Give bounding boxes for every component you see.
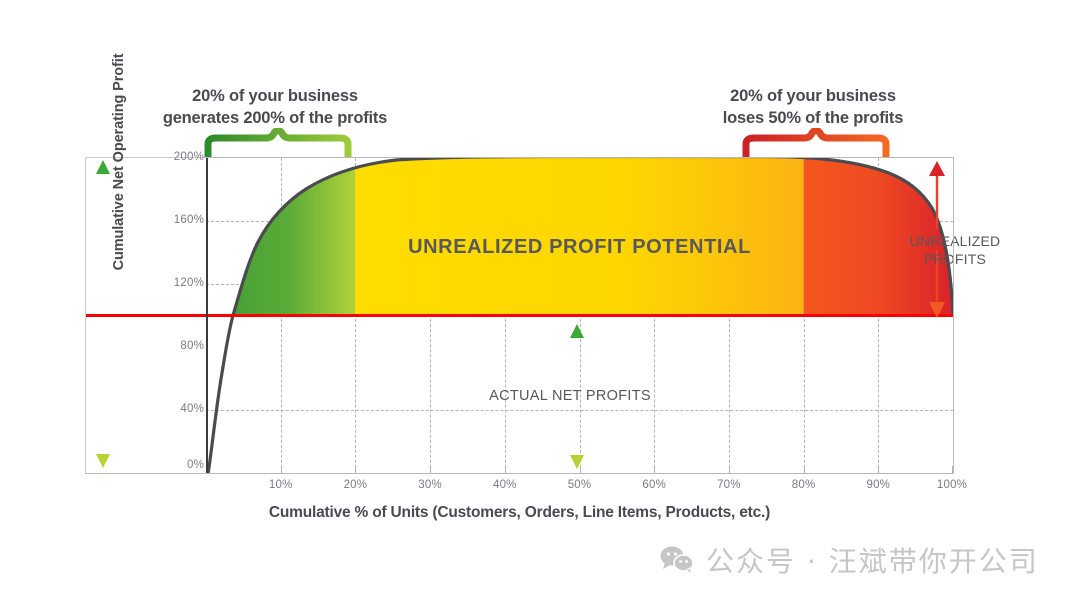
x-tickmark-80 <box>804 466 805 473</box>
x-tick-70: 70% <box>717 479 741 491</box>
x-tick-90: 90% <box>866 479 890 491</box>
x-tickmark-10 <box>281 466 282 473</box>
y-tick-160: 160% <box>152 214 204 226</box>
watermark: 公众号 · 汪斌带你开公司 <box>660 540 1039 580</box>
green-zone-fill <box>206 158 355 322</box>
x-tick-40: 40% <box>493 479 517 491</box>
right-bracket-icon <box>738 128 894 158</box>
x-tick-100: 100% <box>937 479 967 491</box>
x-axis-line <box>85 473 954 474</box>
x-tickmark-50 <box>580 466 581 473</box>
unrealized-profits-up-arrow-icon <box>926 161 948 229</box>
y-tick-40: 40% <box>152 403 204 415</box>
y-tick-120: 120% <box>152 277 204 289</box>
x-tick-30: 30% <box>418 479 442 491</box>
x-tick-50: 50% <box>568 479 592 491</box>
y-axis-line <box>206 158 208 473</box>
x-tickmark-90 <box>878 466 879 473</box>
y-tick-0: 0% <box>152 459 204 471</box>
plot-top-border <box>206 157 954 158</box>
x-axis-title: Cumulative % of Units (Customers, Orders… <box>85 504 954 522</box>
callout-right-text: 20% of your business loses 50% of the pr… <box>688 86 938 130</box>
y-tick-200: 200% <box>152 151 204 163</box>
plot-right-border <box>953 157 954 474</box>
x-tickmark-20 <box>355 466 356 473</box>
x-tickmark-40 <box>505 466 506 473</box>
callout-left-text: 20% of your business generates 200% of t… <box>150 86 400 130</box>
wechat-icon <box>660 546 694 574</box>
left-bracket-icon <box>200 128 356 158</box>
x-tick-10: 10% <box>269 479 293 491</box>
x-axis-ticks: 10% 20% 30% 40% 50% 60% 70% 80% 90% 100% <box>206 479 953 497</box>
x-tick-60: 60% <box>642 479 666 491</box>
x-tick-80: 80% <box>792 479 816 491</box>
x-tickmark-30 <box>430 466 431 473</box>
watermark-text: 公众号 · 汪斌带你开公司 <box>706 540 1039 580</box>
baseline-100-percent <box>86 314 953 317</box>
x-tickmark-100 <box>952 466 953 473</box>
x-tick-20: 20% <box>344 479 368 491</box>
yellow-zone-fill <box>355 158 803 322</box>
x-tickmark-70 <box>729 466 730 473</box>
y-tick-80: 80% <box>152 340 204 352</box>
unrealized-profits-label: UNREALIZED PROFITS <box>880 232 1030 268</box>
actual-net-profits-label: ACTUAL NET PROFITS <box>400 388 740 404</box>
plot-area <box>206 158 953 473</box>
x-tickmark-60 <box>654 466 655 473</box>
chart-canvas: 20% of your business generates 200% of t… <box>0 0 1080 608</box>
